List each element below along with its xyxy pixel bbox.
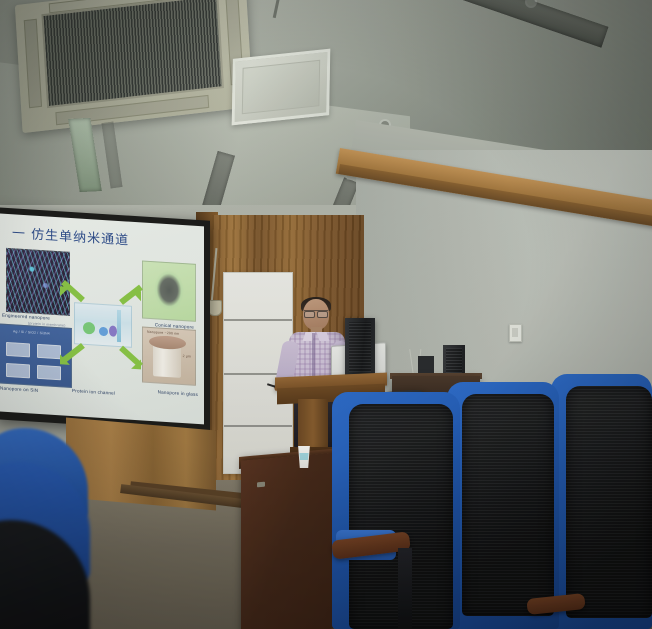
glass-caption-scale: 2 µm [183,354,191,359]
small-speaker-icon [443,345,465,376]
paper-cup-band [299,453,309,460]
sin-box-1 [6,342,30,358]
desk-lock-icon [257,482,265,488]
screen-pull-cord-tab[interactable] [208,300,222,316]
slide-image-nanopore-in-glass: Nanopore ~200 nm 2 µm [142,326,196,385]
chair-2-back[interactable] [462,394,554,616]
channel-bar [117,310,121,342]
slide-label-nanopore-in-glass: Nanopore in glass [158,389,198,397]
wall-switch-plate[interactable] [509,324,522,342]
channel-blob-purple [109,325,117,337]
slide-label-protein-ion-channel: Protein ion channel [72,388,115,396]
sin-box-3 [6,363,30,379]
lecture-hall-photo: 一 仿生单纳米通道 Engineered nanopore (protein i… [0,0,652,629]
chair-1-support [398,548,412,628]
channel-blob-green [83,322,95,335]
projection-screen: 一 仿生单纳米通道 Engineered nanopore (protein i… [0,207,210,432]
slide-surface: 一 仿生单纳米通道 Engineered nanopore (protein i… [0,213,204,424]
slide-title: 一 仿生单纳米通道 [12,222,198,253]
chair-3-back[interactable] [566,386,652,618]
slide-image-protein-ion-channel [74,302,132,348]
sin-caption: Ag / Si / SiO2 / Si3N4 [13,329,50,335]
podium-column [298,399,328,451]
slide-label-nanopore-on-sin: Nanopore on SiN [0,386,38,393]
tall-speaker-icon [345,318,375,376]
panel-seam-3 [224,425,292,427]
panel-seam-1 [224,319,292,321]
glasses-icon [304,310,328,316]
channel-blob-blue [99,327,108,337]
